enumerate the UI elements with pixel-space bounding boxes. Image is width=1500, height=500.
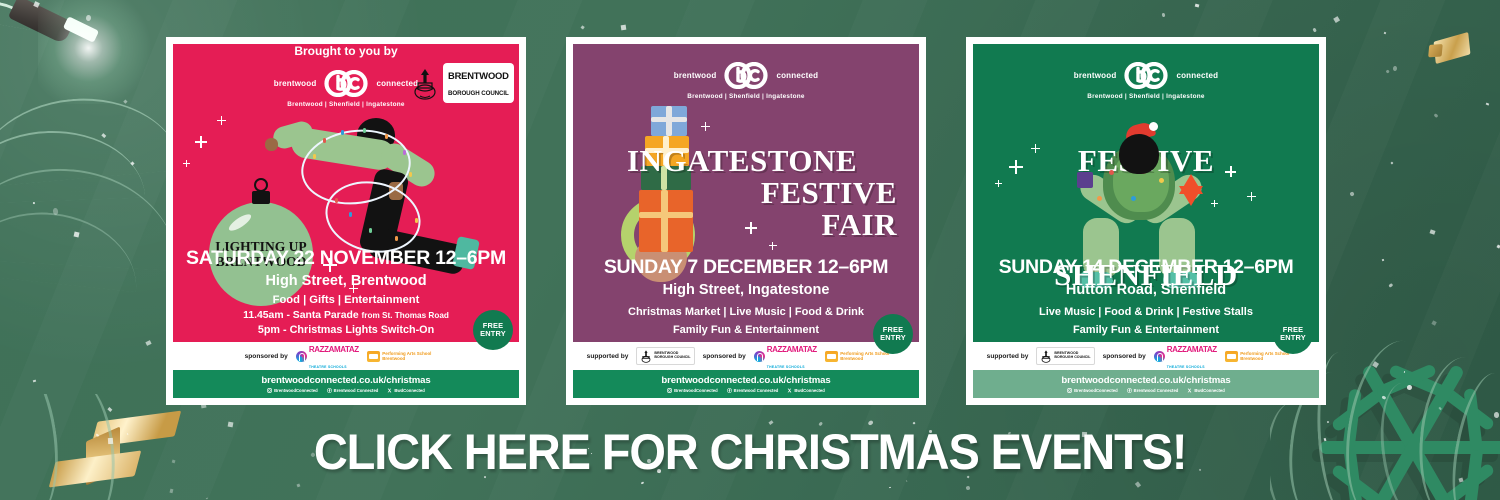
event-tags: Christmas Market | Live Music | Food & D…: [583, 306, 909, 318]
free-entry-badge: FREE ENTRY: [873, 314, 913, 354]
event-venue: High Street, Ingatestone: [583, 282, 909, 298]
poster2-title-line1: INGATESTONE: [573, 146, 911, 175]
event-date: SUNDAY 7 DECEMBER 12–6PM: [583, 256, 909, 279]
sponsor-strip: supported by BRENTWOOD BOROUGH COUNCIL: [973, 342, 1319, 370]
event-venue: Hutton Road, Shenfield: [983, 282, 1309, 298]
razzamataz-logo: RAZZAMATAZ THEATRE SCHOOLS: [1154, 340, 1217, 372]
brand-word-right: connected: [1176, 71, 1218, 80]
cta-text[interactable]: CLICK HERE FOR CHRISTMAS EVENTS!: [314, 423, 1187, 481]
website-url[interactable]: brentwoodconnected.co.uk/christmas: [661, 375, 830, 386]
x-handle: BwdConnected: [794, 388, 824, 393]
social-instagram[interactable]: BrentwoodConnected: [1067, 388, 1118, 393]
razzamataz-logo: RAZZAMATAZ THEATRE SCHOOLS: [754, 340, 817, 372]
brand-word-left: brentwood: [674, 71, 717, 80]
x-twitter-icon: [387, 388, 392, 393]
council-mini-line2: BOROUGH COUNCIL: [1054, 355, 1090, 359]
council-mini-logo: BRENTWOOD BOROUGH COUNCIL: [636, 347, 694, 365]
x-handle: BwdConnected: [1194, 388, 1224, 393]
razzamataz-logo: RAZZAMATAZ THEATRE SCHOOLS: [296, 340, 359, 372]
pas-line2: Brentwood: [1240, 356, 1263, 361]
pas-line2: Brentwood: [840, 356, 863, 361]
free-entry-line2: ENTRY: [1280, 334, 1306, 342]
poster-festive-shenfield[interactable]: brentwood connected Brentwood | Shenfiel…: [966, 37, 1326, 405]
event-venue: High Street, Brentwood: [183, 273, 509, 289]
razzamataz-name: RAZZAMATAZ: [767, 345, 817, 354]
instagram-icon: [1067, 388, 1072, 393]
supported-by-label: supported by: [987, 353, 1029, 360]
free-entry-line2: ENTRY: [880, 334, 906, 342]
poster2-artwork: INGATESTONE FESTIVE FAIR: [573, 100, 919, 256]
social-handles: BrentwoodConnected Brentwood Connected B…: [1067, 388, 1225, 393]
instagram-icon: [667, 388, 672, 393]
poster2-title-line2: FESTIVE: [761, 178, 897, 207]
brand-towns: Brentwood | Shenfield | Ingatestone: [973, 93, 1319, 100]
social-handles: BrentwoodConnected Brentwood Connected B…: [267, 388, 425, 393]
brought-by-label: Brought to you by: [173, 44, 519, 58]
instagram-handle: BrentwoodConnected: [674, 388, 718, 393]
sponsor-strip: supported by BRENTWOOD BOROUGH COUNCIL: [573, 342, 919, 370]
poster1-url-bar[interactable]: brentwoodconnected.co.uk/christmas Brent…: [173, 370, 519, 398]
brand-word-left: brentwood: [274, 79, 317, 88]
event-tags: Live Music | Food & Drink | Festive Stal…: [983, 306, 1309, 318]
poster-row: Brought to you by brentwood connected: [0, 0, 1500, 410]
event-date: SUNDAY 14 DECEMBER 12–6PM: [983, 256, 1309, 279]
social-x[interactable]: BwdConnected: [787, 388, 824, 393]
poster3-info: SUNDAY 14 DECEMBER 12–6PM Hutton Road, S…: [973, 256, 1319, 342]
sponsored-by-label: sponsored by: [703, 353, 746, 360]
x-twitter-icon: [787, 388, 792, 393]
santa-parade-time: 11.45am - Santa Parade: [243, 310, 359, 321]
poster1-info: SATURDAY 22 NOVEMBER 12–6PM High Street,…: [173, 247, 519, 342]
poster1-artwork: LIGHTING UP BRENTWOOD: [173, 108, 519, 247]
poster2-title-line3: FAIR: [822, 210, 897, 239]
event-extra-2: Family Fun & Entertainment: [983, 324, 1309, 336]
instagram-handle: BrentwoodConnected: [274, 388, 318, 393]
brand-word-right: connected: [776, 71, 818, 80]
sponsored-by-label: sponsored by: [245, 353, 288, 360]
council-mini-line2: BOROUGH COUNCIL: [654, 355, 690, 359]
social-instagram[interactable]: BrentwoodConnected: [267, 388, 318, 393]
free-entry-badge: FREE ENTRY: [1273, 314, 1313, 354]
social-facebook[interactable]: Brentwood Connected: [327, 388, 379, 393]
council-crest-icon: [410, 66, 440, 100]
event-extra-1: 11.45am - Santa Parade from St. Thomas R…: [183, 310, 509, 321]
sponsor-strip: sponsored by RAZZAMATAZ THEATRE SCHOOLS …: [173, 342, 519, 370]
facebook-handle: Brentwood Connected: [734, 388, 779, 393]
event-tags: Food | Gifts | Entertainment: [183, 294, 509, 306]
event-extra-2: Family Fun & Entertainment: [583, 324, 909, 336]
bc-logo-icon: [723, 62, 769, 89]
x-handle: BwdConnected: [394, 388, 424, 393]
razzamataz-sub: THEATRE SCHOOLS: [1167, 365, 1205, 369]
website-url[interactable]: brentwoodconnected.co.uk/christmas: [1061, 375, 1230, 386]
razzamataz-mark-icon: [1154, 351, 1165, 362]
instagram-icon: [267, 388, 272, 393]
council-name-line2: BOROUGH COUNCIL: [448, 90, 509, 97]
performing-arts-school-logo: Performing Arts School Brentwood: [367, 351, 432, 362]
brentwood-borough-council-logo: BRENTWOOD BOROUGH COUNCIL: [410, 66, 509, 100]
performing-arts-school-logo: Performing Arts School Brentwood: [825, 351, 890, 362]
brand-word-left: brentwood: [1074, 71, 1117, 80]
poster2-info: SUNDAY 7 DECEMBER 12–6PM High Street, In…: [573, 256, 919, 342]
event-extra-2: 5pm - Christmas Lights Switch-On: [183, 324, 509, 336]
social-x[interactable]: BwdConnected: [1187, 388, 1224, 393]
facebook-icon: [1127, 388, 1132, 393]
brand-lockup: brentwood connected Brentwood | Shenfiel…: [573, 44, 919, 100]
razzamataz-mark-icon: [296, 351, 307, 362]
brand-towns: Brentwood | Shenfield | Ingatestone: [573, 93, 919, 100]
performing-arts-school-logo: Performing Arts School Brentwood: [1225, 351, 1290, 362]
razzamataz-sub: THEATRE SCHOOLS: [309, 365, 347, 369]
poster3-artwork: FESTIVE SHENFIELD: [973, 100, 1319, 256]
council-mini-logo: BRENTWOOD BOROUGH COUNCIL: [1036, 347, 1094, 365]
pas-mark-icon: [1225, 351, 1238, 362]
poster-lighting-up-brentwood[interactable]: Brought to you by brentwood connected: [166, 37, 526, 405]
bc-logo-icon: [1123, 62, 1169, 89]
council-name-line1: BRENTWOOD: [448, 70, 509, 81]
free-entry-badge: FREE ENTRY: [473, 310, 513, 350]
social-facebook[interactable]: Brentwood Connected: [727, 388, 779, 393]
council-crest-icon: [1040, 349, 1052, 363]
razzamataz-sub: THEATRE SCHOOLS: [767, 365, 805, 369]
razzamataz-name: RAZZAMATAZ: [309, 345, 359, 354]
instagram-handle: BrentwoodConnected: [1074, 388, 1118, 393]
facebook-handle: Brentwood Connected: [1134, 388, 1179, 393]
social-handles: BrentwoodConnected Brentwood Connected B…: [667, 388, 825, 393]
pas-mark-icon: [825, 351, 838, 362]
facebook-icon: [327, 388, 332, 393]
social-x[interactable]: BwdConnected: [387, 388, 424, 393]
social-instagram[interactable]: BrentwoodConnected: [667, 388, 718, 393]
event-date: SATURDAY 22 NOVEMBER 12–6PM: [183, 247, 509, 270]
razzamataz-name: RAZZAMATAZ: [1167, 345, 1217, 354]
pas-line1: Performing Arts School: [382, 351, 431, 356]
supported-by-label: supported by: [587, 353, 629, 360]
x-twitter-icon: [1187, 388, 1192, 393]
sponsored-by-label: sponsored by: [1103, 353, 1146, 360]
facebook-handle: Brentwood Connected: [334, 388, 379, 393]
free-entry-line2: ENTRY: [480, 330, 506, 338]
poster-ingatestone-festive-fair[interactable]: brentwood connected Brentwood | Shenfiel…: [566, 37, 926, 405]
social-facebook[interactable]: Brentwood Connected: [1127, 388, 1179, 393]
bc-logo-icon: [323, 70, 369, 97]
cta-banner[interactable]: CLICK HERE FOR CHRISTMAS EVENTS!: [0, 412, 1500, 492]
council-crest-icon: [640, 349, 652, 363]
pas-line2: Brentwood: [382, 356, 405, 361]
pas-mark-icon: [367, 351, 380, 362]
facebook-icon: [727, 388, 732, 393]
website-url[interactable]: brentwoodconnected.co.uk/christmas: [261, 375, 430, 386]
poster3-url-bar[interactable]: brentwoodconnected.co.uk/christmas Brent…: [973, 370, 1319, 398]
razzamataz-mark-icon: [754, 351, 765, 362]
santa-parade-from: from St. Thomas Road: [362, 311, 449, 320]
brand-lockup: brentwood connected Brentwood | Shenfiel…: [973, 44, 1319, 100]
poster2-url-bar[interactable]: brentwoodconnected.co.uk/christmas Brent…: [573, 370, 919, 398]
